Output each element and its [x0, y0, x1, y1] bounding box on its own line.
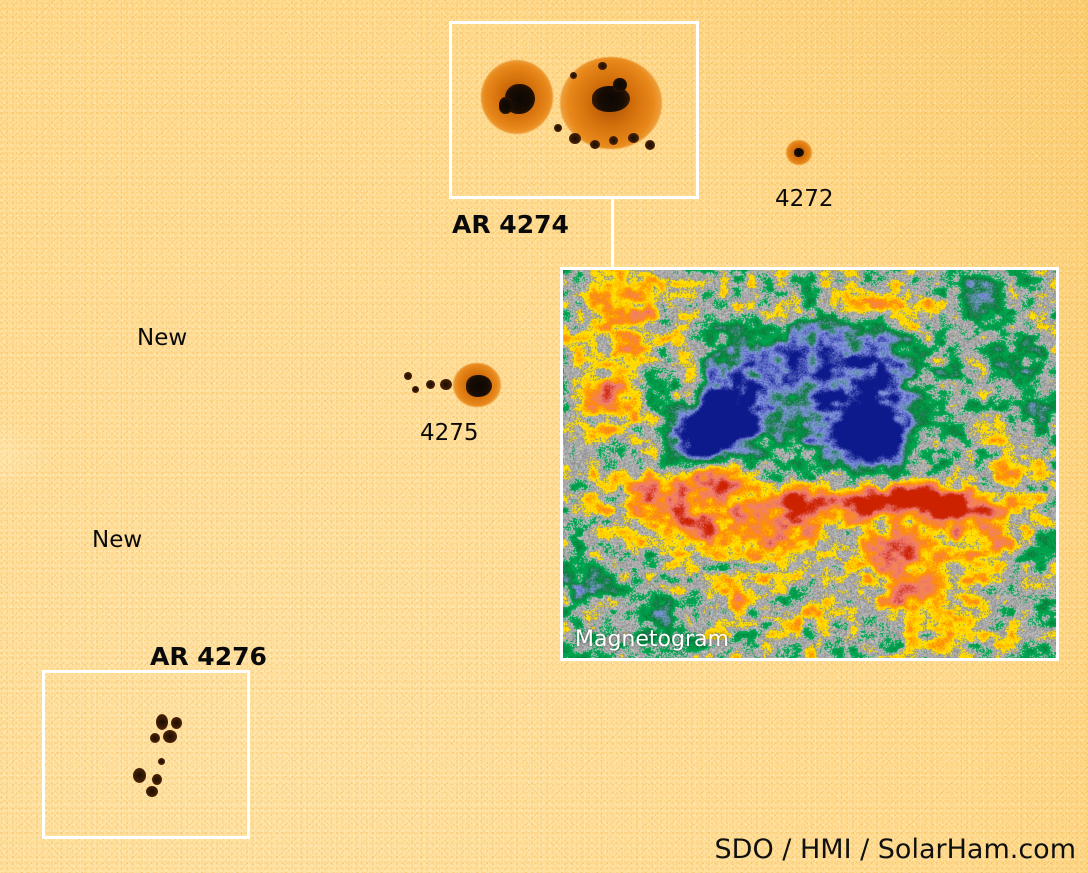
- label-ar-4275: 4275: [420, 422, 479, 445]
- solar-image-stage: Magnetogram NewNew42754272AR 4274AR 4276…: [0, 0, 1088, 873]
- label-ar-4276: AR 4276: [150, 644, 267, 669]
- label-ar-4274: AR 4274: [452, 212, 569, 237]
- credit-text: SDO / HMI / SolarHam.com: [715, 834, 1076, 865]
- label-new-upper: New: [137, 327, 187, 350]
- callout-connector-line: [611, 199, 614, 268]
- magnetogram-inset[interactable]: Magnetogram: [560, 267, 1059, 661]
- callout-box-ar4276[interactable]: [42, 670, 250, 839]
- label-ar-4272: 4272: [775, 188, 834, 211]
- label-new-lower: New: [92, 529, 142, 552]
- callout-box-ar4274[interactable]: [449, 21, 699, 199]
- magnetogram-image: [563, 270, 1056, 658]
